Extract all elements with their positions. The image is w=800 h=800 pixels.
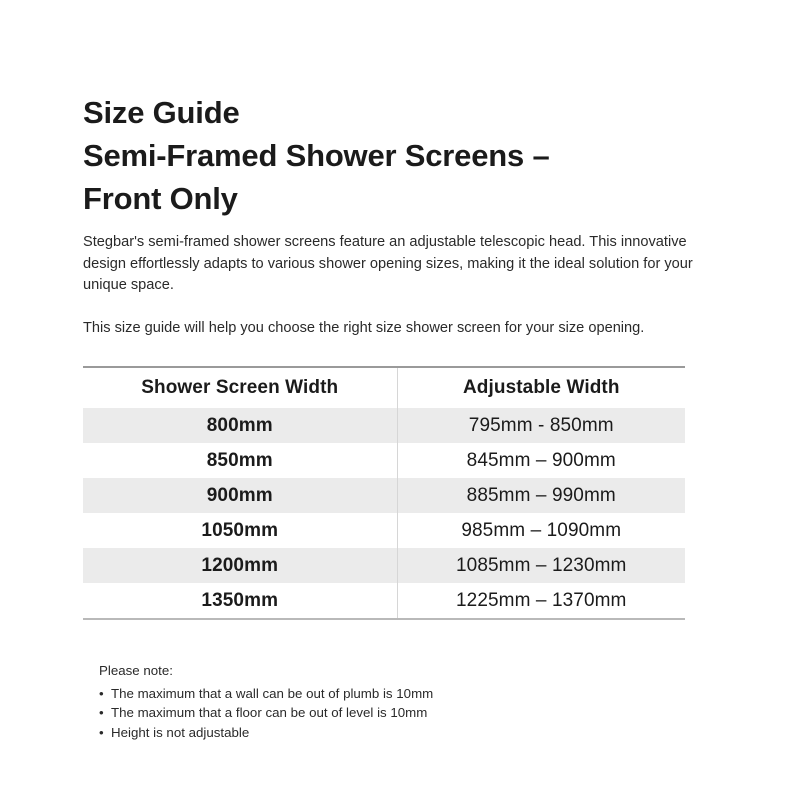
cell-shower-screen-width: 800mm [83,408,397,443]
intro-paragraph-1: Stegbar's semi-framed shower screens fea… [83,232,693,297]
cell-shower-screen-width: 900mm [83,478,397,513]
page-title-line-2: Semi-Framed Shower Screens – [83,134,723,177]
cell-shower-screen-width: 1200mm [83,548,397,583]
size-table-body: 800mm 795mm - 850mm 850mm 845mm – 900mm … [83,408,685,619]
size-table-container: Shower Screen Width Adjustable Width 800… [83,366,685,620]
size-guide-page: Size Guide Semi-Framed Shower Screens – … [0,0,800,800]
please-note-title: Please note: [99,661,679,681]
cell-shower-screen-width: 1050mm [83,513,397,548]
size-table: Shower Screen Width Adjustable Width 800… [83,366,685,620]
table-row: 900mm 885mm – 990mm [83,478,685,513]
table-row: 1200mm 1085mm – 1230mm [83,548,685,583]
bullet-icon: • [99,684,104,704]
list-item-label: The maximum that a wall can be out of pl… [111,686,433,701]
bullet-icon: • [99,703,104,723]
size-table-head: Shower Screen Width Adjustable Width [83,367,685,408]
cell-adjustable-width: 885mm – 990mm [397,478,685,513]
list-item: • The maximum that a floor can be out of… [99,703,679,723]
cell-adjustable-width: 985mm – 1090mm [397,513,685,548]
table-row: 1050mm 985mm – 1090mm [83,513,685,548]
cell-adjustable-width: 795mm - 850mm [397,408,685,443]
table-header-row: Shower Screen Width Adjustable Width [83,367,685,408]
list-item: • The maximum that a wall can be out of … [99,684,679,704]
cell-shower-screen-width: 1350mm [83,583,397,619]
table-row: 800mm 795mm - 850mm [83,408,685,443]
page-title: Size Guide Semi-Framed Shower Screens – … [83,91,723,220]
cell-adjustable-width: 1085mm – 1230mm [397,548,685,583]
intro-text: Stegbar's semi-framed shower screens fea… [83,232,693,339]
column-header-shower-screen-width: Shower Screen Width [83,367,397,408]
page-title-line-1: Size Guide [83,91,723,134]
list-item: • Height is not adjustable [99,723,679,743]
please-note-section: Please note: • The maximum that a wall c… [99,661,679,742]
cell-adjustable-width: 845mm – 900mm [397,443,685,478]
list-item-label: Height is not adjustable [111,725,249,740]
cell-shower-screen-width: 850mm [83,443,397,478]
table-row: 1350mm 1225mm – 1370mm [83,583,685,619]
list-item-label: The maximum that a floor can be out of l… [111,705,427,720]
page-title-line-3: Front Only [83,177,723,220]
bullet-icon: • [99,723,104,743]
cell-adjustable-width: 1225mm – 1370mm [397,583,685,619]
intro-paragraph-2: This size guide will help you choose the… [83,318,693,340]
column-header-adjustable-width: Adjustable Width [397,367,685,408]
table-row: 850mm 845mm – 900mm [83,443,685,478]
please-note-list: • The maximum that a wall can be out of … [99,684,679,743]
